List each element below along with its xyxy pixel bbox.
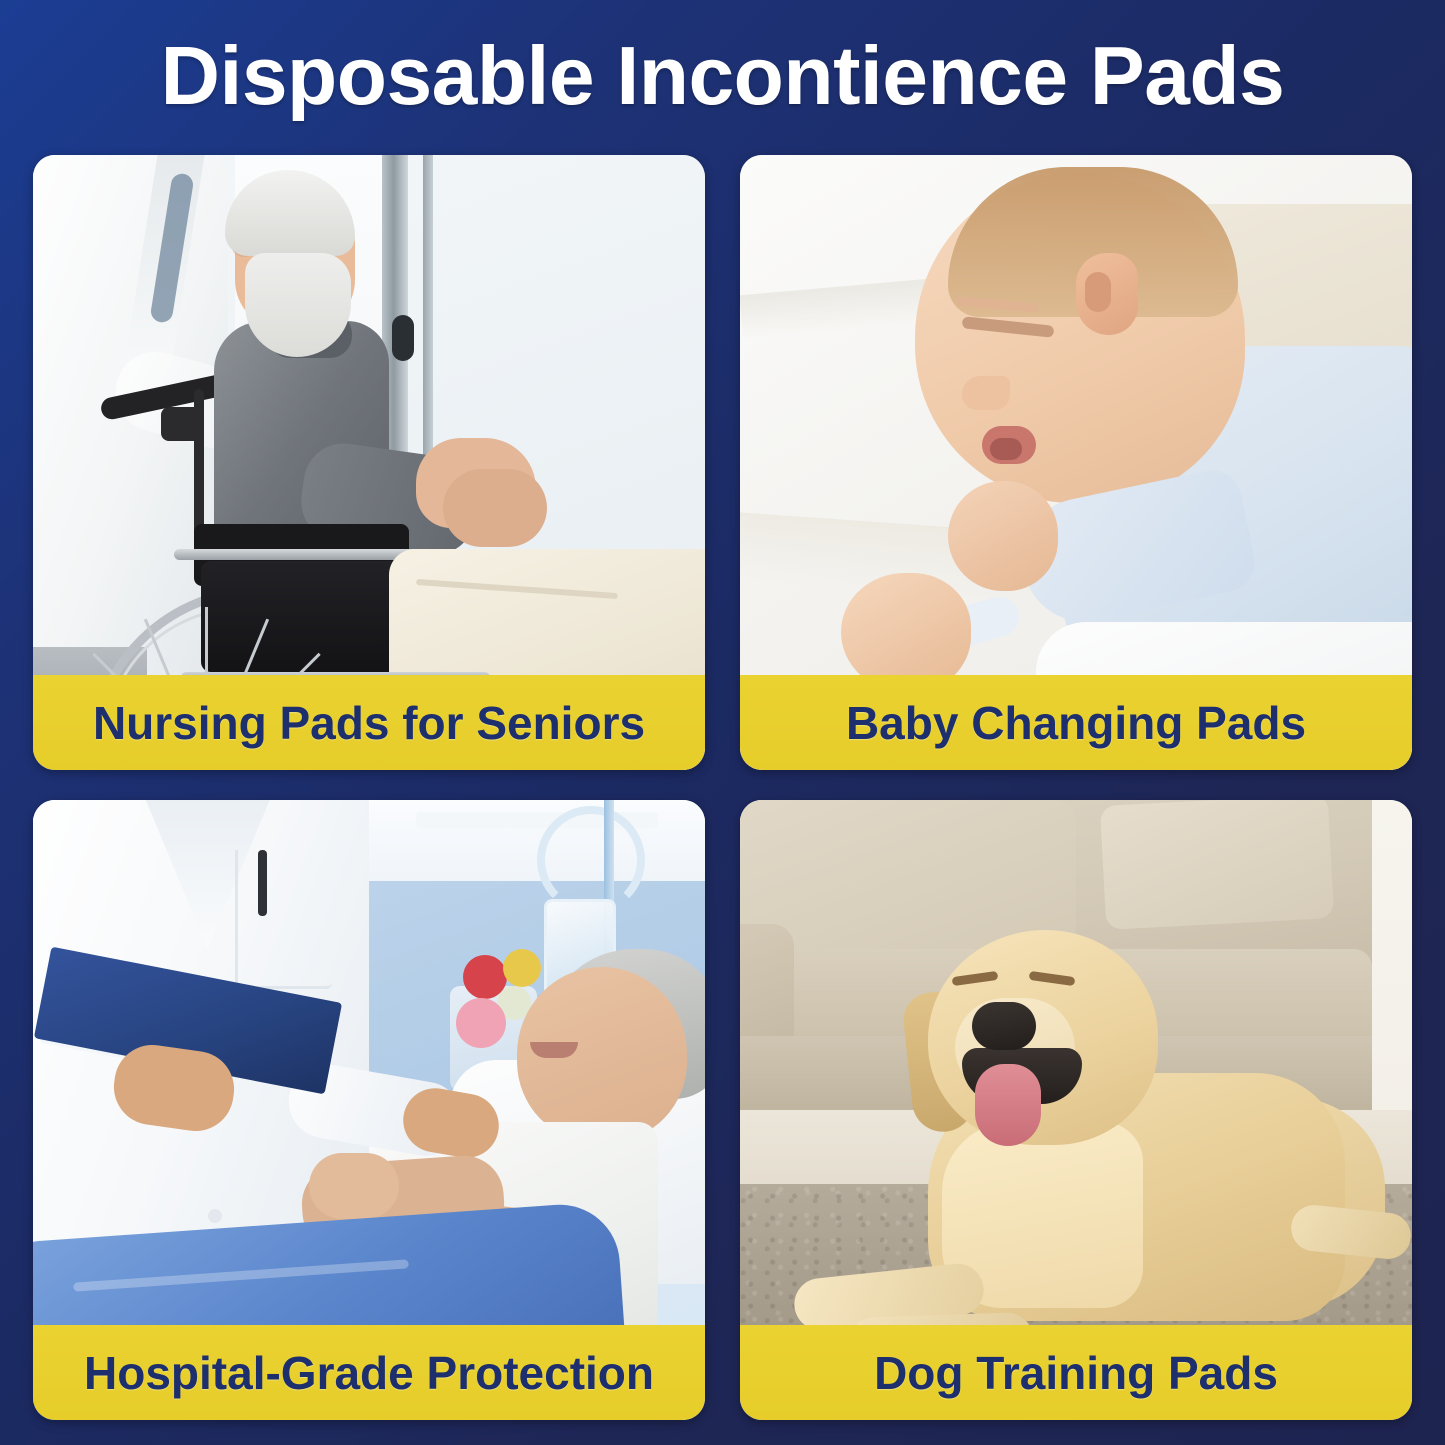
caption-label: Dog Training Pads: [874, 1350, 1278, 1396]
baby-fist-upper: [948, 481, 1058, 591]
doctor-coat-pocket: [235, 850, 332, 989]
poster-title-bar: Disposable Incontience Pads: [0, 0, 1445, 150]
caption-bar-dog-training-pads: Dog Training Pads: [740, 1325, 1412, 1420]
page-title: Disposable Incontience Pads: [161, 34, 1285, 117]
sofa-throw-pillow: [1100, 800, 1335, 930]
feature-card-baby-changing-pads[interactable]: Baby Changing Pads: [740, 155, 1412, 770]
caption-label: Hospital-Grade Protection: [84, 1350, 654, 1396]
baby-nose: [962, 376, 1010, 410]
patient-hand: [309, 1153, 399, 1219]
window-handle: [392, 315, 414, 361]
feature-card-dog-training-pads[interactable]: Dog Training Pads: [740, 800, 1412, 1420]
senior-hand-right: [443, 469, 547, 547]
flower-yellow: [503, 949, 541, 987]
baby-ear-inner: [1085, 272, 1111, 312]
feature-card-grid: Nursing Pads for Seniors: [33, 155, 1412, 1420]
feature-card-nursing-pads[interactable]: Nursing Pads for Seniors: [33, 155, 705, 770]
pen-icon: [258, 850, 267, 916]
wheelchair-side-panel: [201, 561, 403, 672]
caption-label: Nursing Pads for Seniors: [93, 700, 645, 746]
caption-bar-baby-changing-pads: Baby Changing Pads: [740, 675, 1412, 770]
coat-button-bottom: [208, 1209, 222, 1223]
caption-bar-nursing-pads: Nursing Pads for Seniors: [33, 675, 705, 770]
dog-nose: [972, 1002, 1036, 1050]
feature-card-hospital-grade-protection[interactable]: Hospital-Grade Protection: [33, 800, 705, 1420]
caption-bar-hospital-grade-protection: Hospital-Grade Protection: [33, 1325, 705, 1420]
dog-tongue: [975, 1064, 1041, 1146]
baby-mouth-inner: [990, 438, 1022, 460]
caption-label: Baby Changing Pads: [846, 700, 1306, 746]
product-infographic-poster: Disposable Incontience Pads: [0, 0, 1445, 1445]
iv-stand-hook: [537, 806, 645, 914]
